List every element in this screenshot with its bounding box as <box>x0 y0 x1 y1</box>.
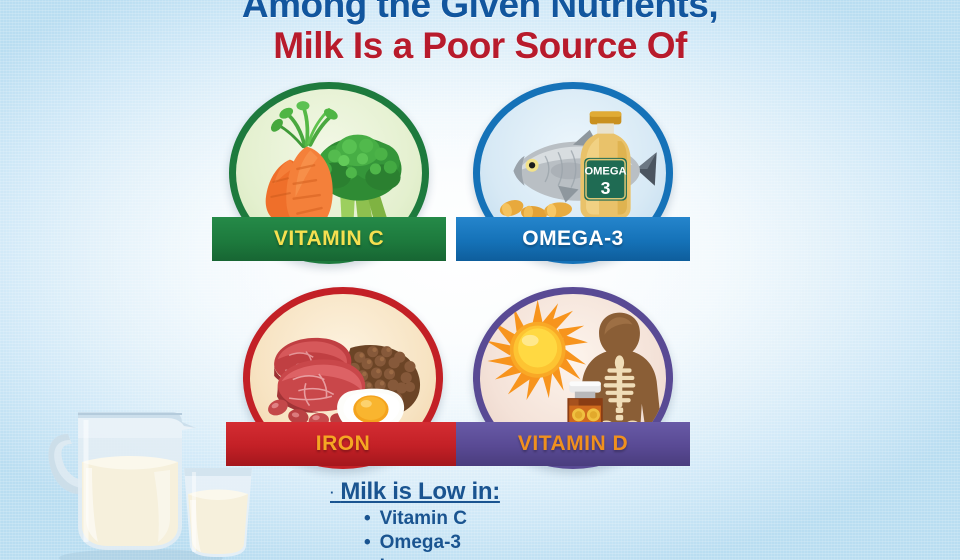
list-item-label: Omega-3 <box>380 532 461 553</box>
svg-text:3: 3 <box>601 178 611 198</box>
badge-vitamin-c[interactable]: VITAMIN C <box>218 82 440 277</box>
low-in-heading: · Milk is Low in: <box>330 478 500 506</box>
badge-label-vitamin-c: VITAMIN C <box>274 227 384 251</box>
ribbon-iron: IRON <box>226 422 460 466</box>
badge-label-iron: IRON <box>316 432 371 456</box>
list-item-label: Iron <box>380 556 416 560</box>
page-title: Among the Given Nutrients, Milk Is a Poo… <box>0 0 960 64</box>
badge-iron[interactable]: IRON <box>232 287 454 482</box>
milk-low-in-list: · Milk is Low in: •Vitamin C •Omega-3 •I… <box>330 478 500 560</box>
low-in-heading-bullet: · <box>330 485 334 500</box>
list-bullet: • <box>364 508 371 529</box>
carrot-greens-icon <box>269 101 340 147</box>
ribbon-vitamin-d: VITAMIN D <box>456 422 690 466</box>
badge-label-omega-3: OMEGA-3 <box>522 227 624 251</box>
list-item: •Omega-3 <box>364 532 500 554</box>
ribbon-vitamin-c: VITAMIN C <box>212 217 446 261</box>
title-line-1: Among the Given Nutrients, <box>0 0 960 24</box>
ribbon-omega-3: OMEGA-3 <box>456 217 690 261</box>
badge-omega-3[interactable]: OMEGA 3 OMEGA-3 <box>462 82 684 277</box>
list-bullet: • <box>364 556 371 560</box>
badge-label-vitamin-d: VITAMIN D <box>518 432 628 456</box>
low-in-heading-text: Milk is Low in: <box>340 478 500 505</box>
milk-pitcher-icon <box>49 412 196 550</box>
title-line-2: Milk Is a Poor Source Of <box>0 27 960 65</box>
svg-text:OMEGA: OMEGA <box>584 166 626 178</box>
oil-bottle-icon: OMEGA 3 <box>580 111 630 219</box>
nutrient-badge-grid: VITAMIN C <box>218 82 688 482</box>
list-item-label: Vitamin C <box>380 508 467 529</box>
list-item: •Iron <box>364 556 500 560</box>
list-item: •Vitamin C <box>364 508 500 530</box>
list-bullet: • <box>364 532 371 553</box>
badge-vitamin-d[interactable]: VITAMIN D <box>462 287 684 482</box>
